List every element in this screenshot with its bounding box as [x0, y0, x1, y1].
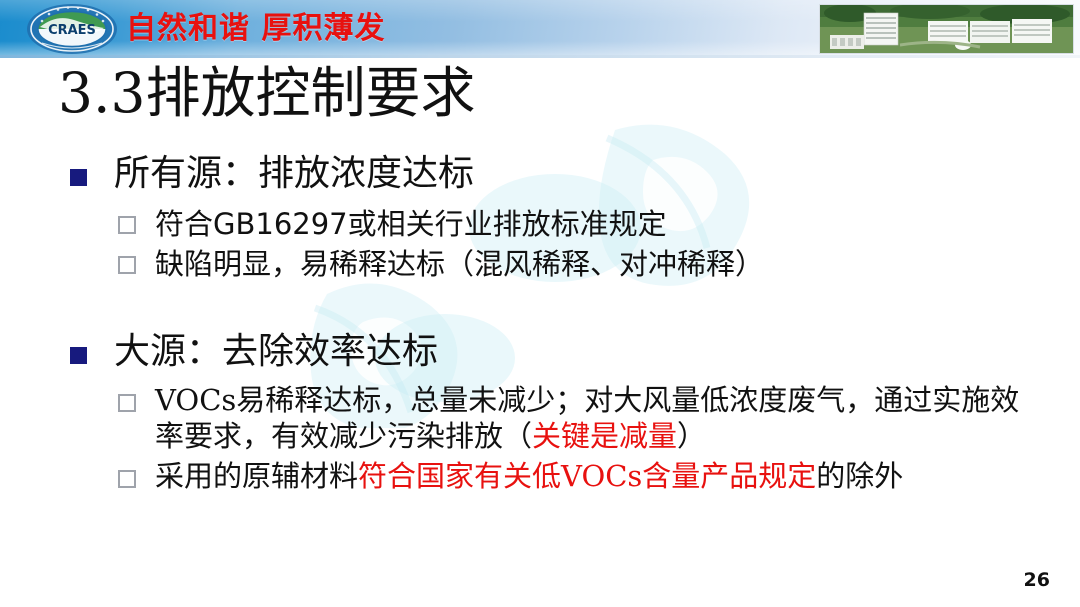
header-slogan: 自然和谐 厚积薄发 — [126, 10, 385, 48]
page-title: 3.3排放控制要求 — [58, 58, 475, 128]
campus-photo — [819, 4, 1074, 54]
bullet-level1-all-sources: 所有源：排放浓度达标 — [68, 150, 1080, 198]
hollow-square-bullet-icon — [118, 256, 136, 274]
bullet-level1-large-sources: 大源：去除效率达标 — [68, 328, 1080, 376]
bullet-text-run-1: 采用的原辅材料 — [155, 459, 358, 493]
bullet-text-run-2-highlight: 符合国家有关低VOCs含量产品规定 — [358, 459, 816, 493]
craes-logo-text: CRAES — [48, 23, 96, 38]
bullet-level2-item: VOCs易稀释达标，总量未减少；对大风量低浓度废气，通过实施效率要求，有效减少污… — [118, 382, 1035, 454]
hollow-square-bullet-icon — [118, 470, 136, 488]
square-bullet-icon — [70, 347, 87, 364]
craes-logo: CRAES — [26, 3, 118, 55]
square-bullet-icon — [70, 169, 87, 186]
sublist-large-sources: VOCs易稀释达标，总量未减少；对大风量低浓度废气，通过实施效率要求，有效减少污… — [0, 382, 1080, 494]
hollow-square-bullet-icon — [118, 394, 136, 412]
sublist-all-sources: 符合GB16297或相关行业排放标准规定 缺陷明显，易稀释达标（混风稀释、对冲稀… — [0, 204, 1080, 284]
bullet-text-run-3: ） — [677, 419, 706, 453]
bullet-level2-label: 符合GB16297或相关行业排放标准规定 — [155, 207, 667, 241]
bullet-level2-item: 缺陷明显，易稀释达标（混风稀释、对冲稀释） — [118, 244, 1080, 284]
hollow-square-bullet-icon — [118, 216, 136, 234]
bullet-text-run-3: 的除外 — [816, 459, 903, 493]
bullet-level1-label: 大源：去除效率达标 — [114, 331, 438, 372]
bullet-level2-label: 缺陷明显，易稀释达标（混风稀释、对冲稀释） — [155, 247, 764, 281]
page-number: 26 — [1024, 569, 1050, 591]
bullet-level2-item: 采用的原辅材料符合国家有关低VOCs含量产品规定的除外 — [118, 458, 1035, 494]
bullet-level1-label: 所有源：排放浓度达标 — [114, 153, 474, 194]
slide-content: 所有源：排放浓度达标 符合GB16297或相关行业排放标准规定 缺陷明显，易稀释… — [0, 150, 1080, 494]
bullet-text-run-2-highlight: 关键是减量 — [532, 419, 677, 453]
slide: CRAES 自然和谐 厚积薄发 — [0, 0, 1080, 607]
section-gap — [0, 284, 1080, 328]
bullet-level2-item: 符合GB16297或相关行业排放标准规定 — [118, 204, 1080, 244]
